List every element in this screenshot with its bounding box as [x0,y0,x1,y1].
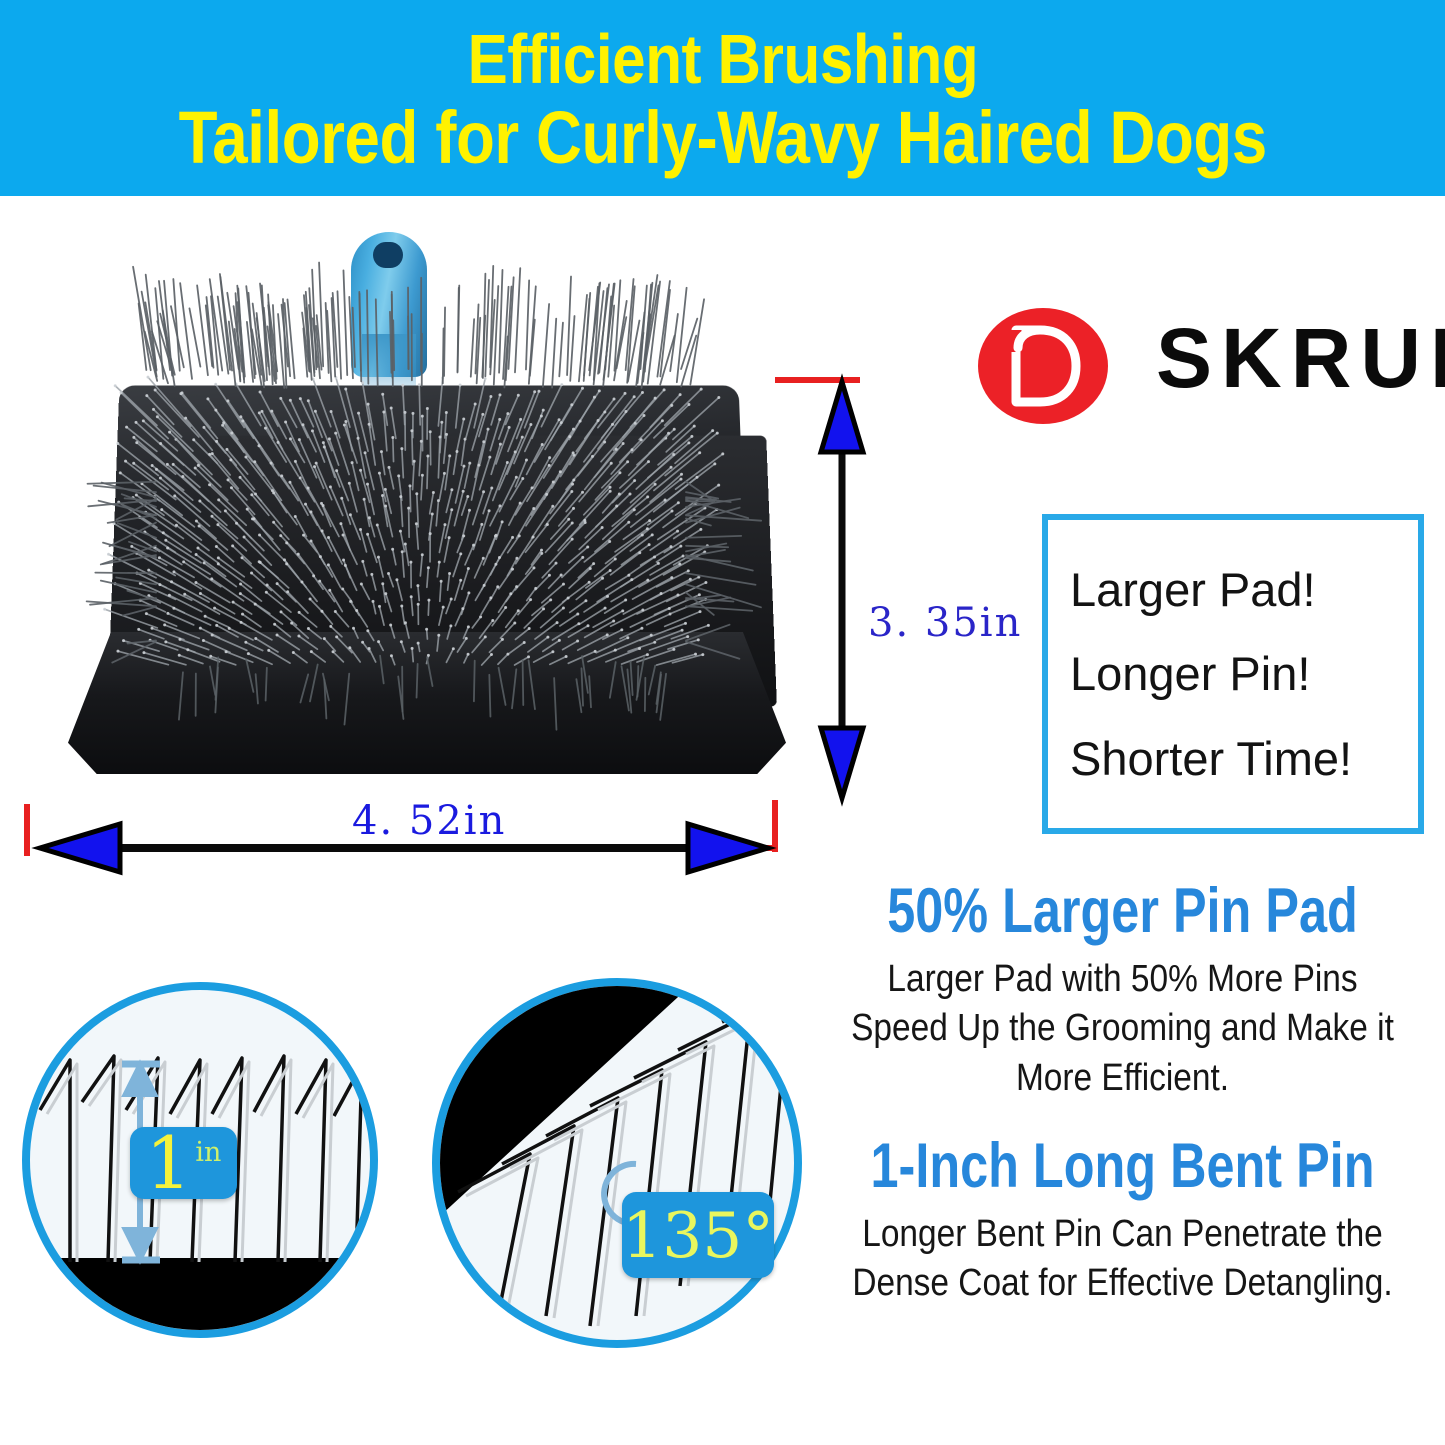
badge-pin-length-unit: in [195,1139,221,1166]
infographic-page: Efficient Brushing Tailored for Curly-Wa… [0,0,1445,1445]
banner-headline-2: Tailored for Curly-Wavy Haired Dogs [178,102,1266,175]
header-banner: Efficient Brushing Tailored for Curly-Wa… [0,0,1445,196]
badge-pin-length: 1 in [130,1127,237,1199]
banner-headline-1: Efficient Brushing [467,25,978,94]
selling-point-2-body: Longer Bent Pin Can Penetrate the Dense … [839,1210,1407,1309]
badge-pin-length-value: 1 [146,1127,192,1199]
feature-highlight-box: Larger Pad! Longer Pin! Shorter Time! [1042,514,1424,834]
feature-line-1: Larger Pad! [1070,565,1418,614]
width-dimension-label: 4. 52in [352,798,506,844]
badge-pin-angle: 135° [622,1192,774,1278]
selling-point-2-heading: 1-Inch Long Bent Pin [865,1135,1381,1198]
feature-line-3: Shorter Time! [1070,734,1418,783]
selling-point-1: 50% Larger Pin Pad Larger Pad with 50% M… [800,880,1445,1103]
brush-base [68,632,786,774]
height-arrow-head-up [821,382,863,452]
pin-angle-diagram [440,986,794,1340]
product-photo [26,214,786,824]
selling-point-1-body: Larger Pad with 50% More Pins Speed Up t… [839,955,1407,1103]
logo-d-icon [1000,322,1088,410]
feature-line-2: Longer Pin! [1070,649,1418,698]
brand-name: SKRUI [1156,316,1445,400]
width-arrow-head-left [40,824,120,872]
height-arrow-head-down [821,728,863,798]
brand-logo: SKRUI [978,308,1438,426]
inset-pin-angle [432,978,802,1348]
width-arrow-head-right [688,824,768,872]
selling-point-1-heading: 50% Larger Pin Pad [865,880,1381,943]
selling-point-2: 1-Inch Long Bent Pin Longer Bent Pin Can… [800,1135,1445,1309]
brush-body [56,364,756,794]
height-dimension-label: 3. 35in [868,600,1022,646]
